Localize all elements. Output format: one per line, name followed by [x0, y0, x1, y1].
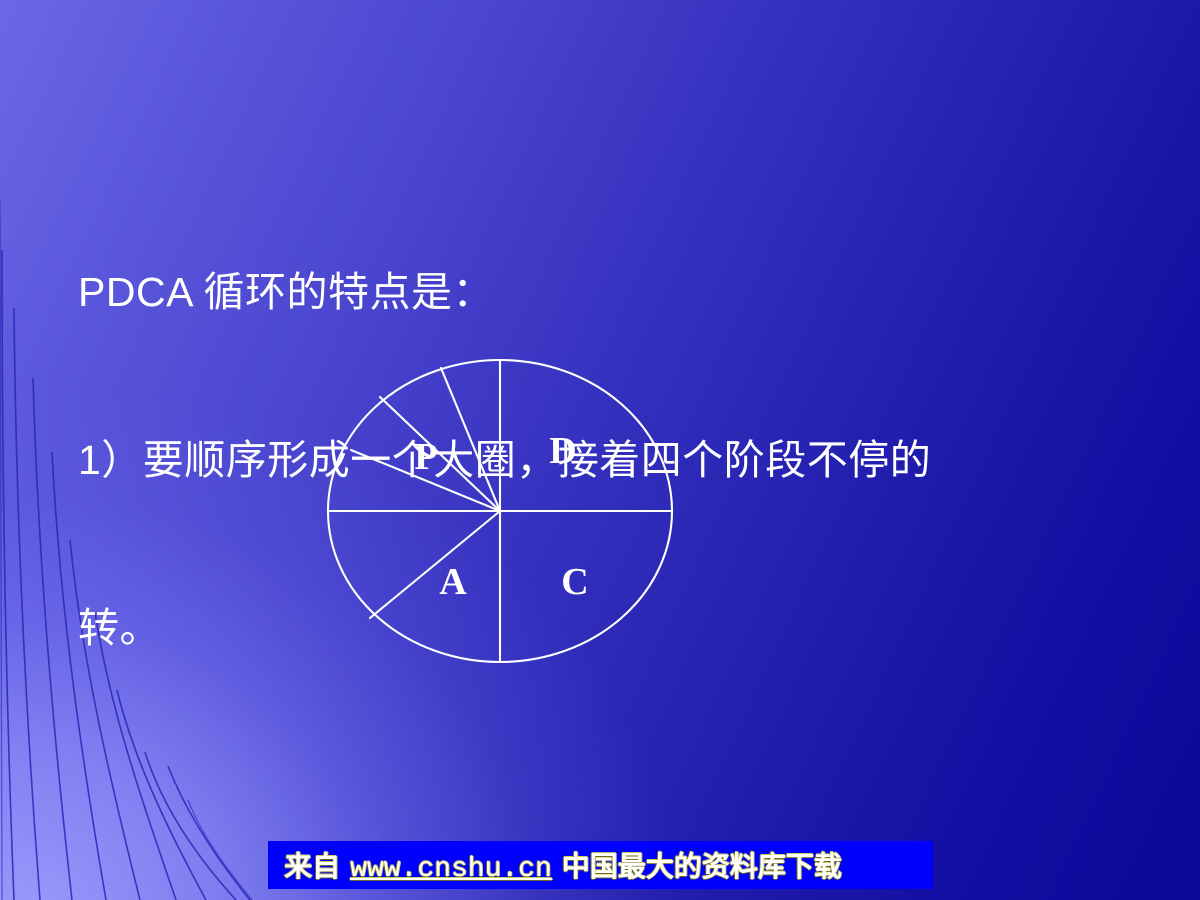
quadrant-label-a: A: [433, 563, 473, 601]
quadrant-label-p: P: [406, 438, 446, 476]
source-prefix: 来自: [284, 851, 340, 882]
source-url-link[interactable]: www.cnshu.cn: [350, 854, 552, 885]
pdca-circle-svg: [300, 330, 720, 690]
quadrant-label-c: C: [555, 563, 595, 601]
slide-canvas: PDCA 循环的特点是： 1）要顺序形成一个大圈，接着四个阶段不停的 转。: [0, 0, 1200, 900]
pdca-cycle-diagram: P D A C: [300, 330, 720, 690]
quadrant-label-d: D: [543, 432, 583, 470]
source-banner: 来自www.cnshu.cn中国最大的资料库下载: [268, 841, 933, 889]
source-banner-text: 来自www.cnshu.cn中国最大的资料库下载: [284, 845, 842, 885]
source-suffix: 中国最大的资料库下载: [562, 851, 842, 882]
body-text-line-1: PDCA 循环的特点是：: [78, 264, 1088, 320]
